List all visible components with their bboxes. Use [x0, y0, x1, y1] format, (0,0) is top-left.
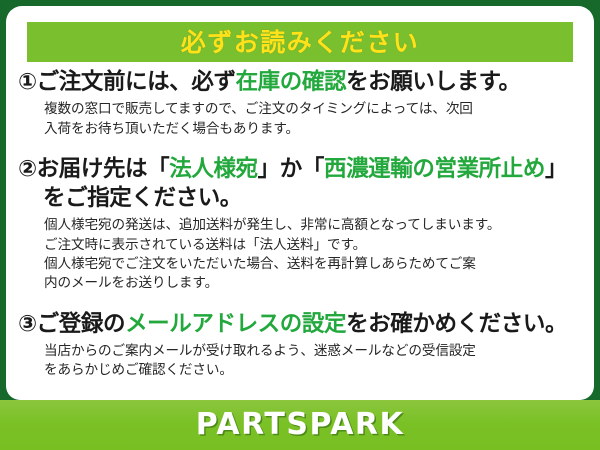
- item-3-head-post: をお確かめください。: [346, 311, 567, 337]
- footer-bar: PARTSPARK: [0, 400, 600, 450]
- item-2-head-accent-seino: 西濃運輸の営業所止め: [324, 156, 545, 182]
- item-3-head-accent: メールアドレスの設定: [125, 311, 346, 337]
- item-1-subtext-line-1: 複数の窓口で販売してますので、ご注文のタイミングによっては、次回: [44, 100, 584, 119]
- notice-item-1: ①ご注文前には、必ず在庫の確認をお願いします。 複数の窓口で販売してますので、ご…: [6, 68, 594, 139]
- header-title: 必ずお読みください: [181, 30, 420, 55]
- item-3-subtext: 当店からのご案内メールが受け取れるよう、迷惑メールなどの受信設定 をあらかじめご…: [18, 342, 584, 381]
- item-1-marker: ①: [18, 69, 37, 95]
- item-2-head-post: 」: [545, 156, 567, 182]
- item-3-head-pre: ご登録の: [37, 311, 125, 337]
- item-2-heading: ②お届け先は「法人様宛」か「西濃運輸の営業所止め」 をご指定ください。: [18, 155, 584, 214]
- item-1-heading: ①ご注文前には、必ず在庫の確認をお願いします。: [18, 68, 584, 97]
- item-2-head-accent-corporate: 法人様宛: [169, 156, 257, 182]
- notice-item-3: ③ご登録のメールアドレスの設定をお確かめください。 当店からのご案内メールが受け…: [6, 310, 594, 381]
- brand-logo-partspark: PARTSPARK: [196, 410, 405, 440]
- header-bar: 必ずお読みください: [27, 22, 573, 62]
- notice-card: 必ずお読みください ①ご注文前には、必ず在庫の確認をお願いします。 複数の窓口で…: [6, 6, 594, 400]
- item-2-head-pre: お届け先は「: [37, 156, 170, 182]
- item-3-subtext-line-1: 当店からのご案内メールが受け取れるよう、迷惑メールなどの受信設定: [44, 342, 584, 361]
- notice-item-2: ②お届け先は「法人様宛」か「西濃運輸の営業所止め」 をご指定ください。 個人様宅…: [6, 155, 594, 294]
- item-1-head-pre: ご注文前には、必ず: [37, 69, 236, 95]
- item-2-subtext-line-1: 個人様宅宛の発送は、追加送料が発生し、非常に高額となってしまいます。: [44, 216, 584, 235]
- item-1-head-post: をお願いします。: [346, 69, 521, 95]
- item-2-subtext-line-3: 個人様宅宛でご注文をいただいた場合、送料を再計算しあらためてご案: [44, 255, 584, 274]
- item-1-subtext-line-2: 入荷をお待ち頂いただく場合もあります。: [44, 120, 584, 139]
- item-3-marker: ③: [18, 311, 37, 337]
- item-1-subtext: 複数の窓口で販売してますので、ご注文のタイミングによっては、次回 入荷をお待ち頂…: [18, 100, 584, 139]
- item-2-subtext-line-4: 内のメールをお送りします。: [44, 274, 584, 293]
- item-2-head-mid: 」か「: [258, 156, 324, 182]
- notice-banner: 必ずお読みください ①ご注文前には、必ず在庫の確認をお願いします。 複数の窓口で…: [0, 0, 600, 450]
- item-2-head-line2: をご指定ください。: [18, 184, 584, 213]
- item-2-subtext: 個人様宅宛の発送は、追加送料が発生し、非常に高額となってしまいます。 ご注文時に…: [18, 216, 584, 293]
- notice-content: ①ご注文前には、必ず在庫の確認をお願いします。 複数の窓口で販売してますので、ご…: [6, 68, 594, 380]
- item-3-heading: ③ご登録のメールアドレスの設定をお確かめください。: [18, 310, 584, 339]
- item-2-subtext-line-2: ご注文時に表示されている送料は「法人送料」です。: [44, 236, 584, 255]
- item-1-head-accent: 在庫の確認: [236, 69, 347, 95]
- item-3-subtext-line-2: をあらかじめご確認ください。: [44, 361, 584, 380]
- item-2-marker: ②: [18, 156, 37, 182]
